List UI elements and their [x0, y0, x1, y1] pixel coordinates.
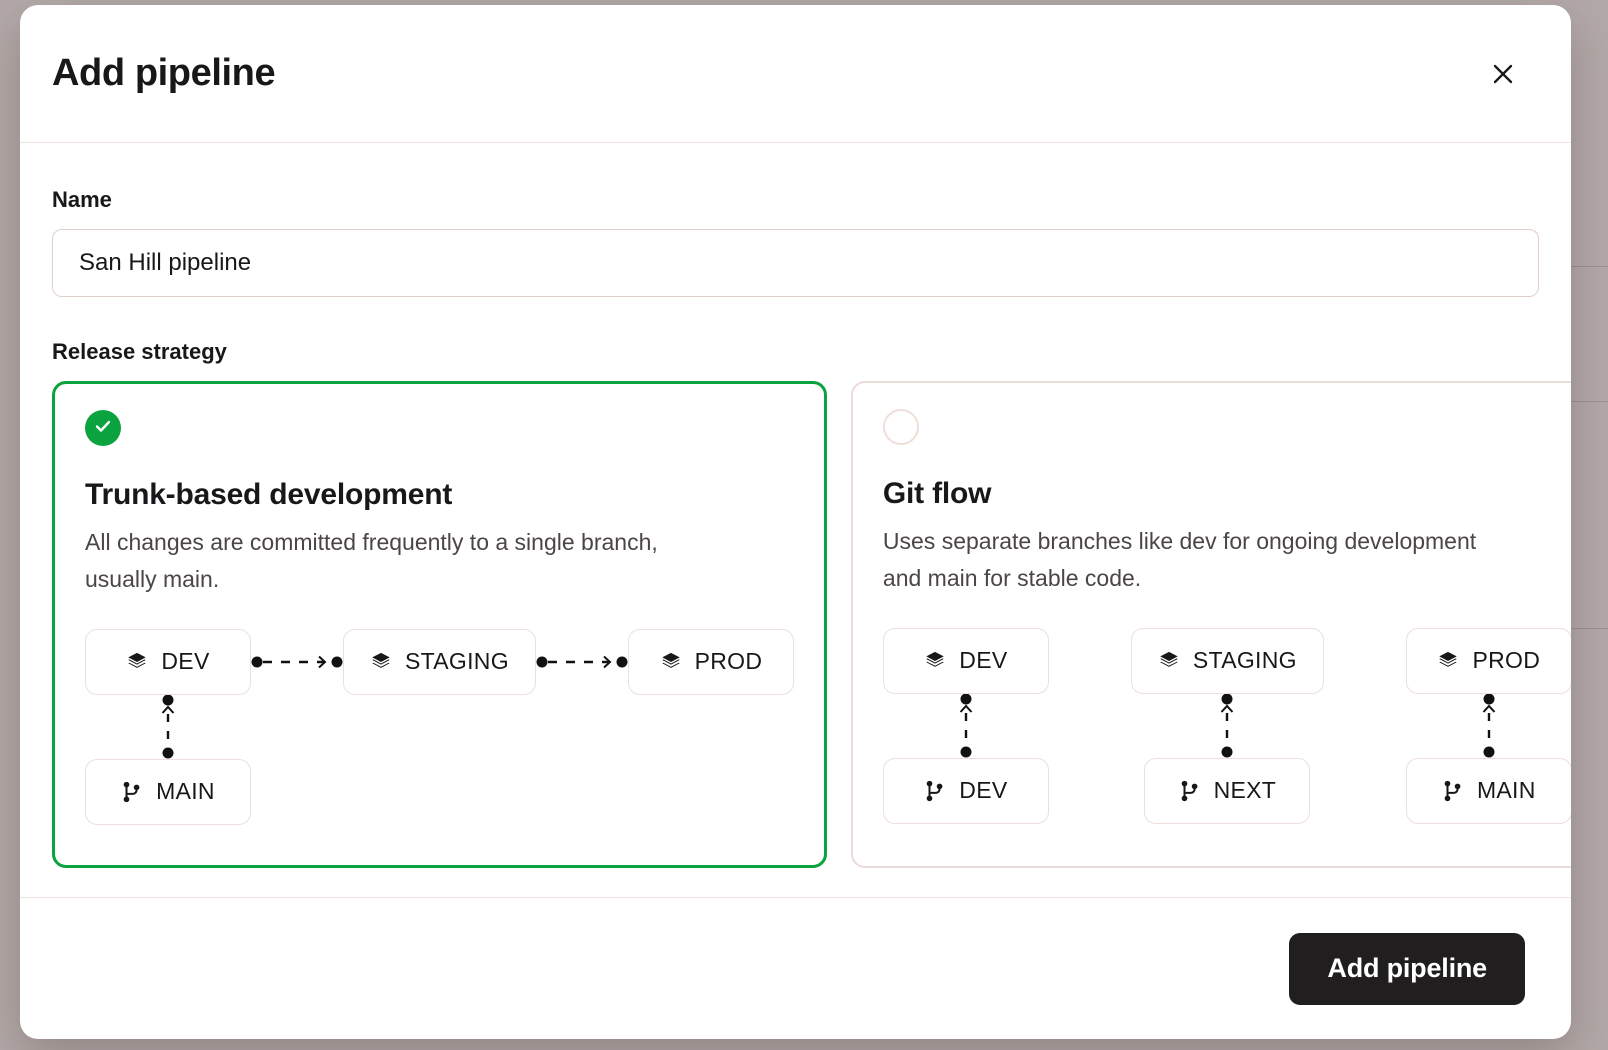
close-icon [1490, 61, 1516, 87]
git-branch-icon [924, 780, 946, 802]
strategy-selected-marker[interactable] [85, 410, 121, 446]
stack-icon [1158, 650, 1180, 672]
strategy-card-trunk-based[interactable]: Trunk-based development All changes are … [52, 381, 827, 868]
add-pipeline-submit-button[interactable]: Add pipeline [1289, 933, 1525, 1005]
name-input[interactable] [52, 229, 1539, 297]
stack-icon [126, 651, 148, 673]
env-node-dev[interactable]: DEV [85, 629, 251, 695]
env-node-prod[interactable]: PROD [628, 629, 794, 695]
stack-icon [1437, 650, 1459, 672]
dialog-header: Add pipeline [20, 5, 1571, 143]
release-strategy-options: Trunk-based development All changes are … [52, 381, 1539, 868]
pipeline-column-dev: DEV [85, 629, 251, 825]
name-field-label: Name [52, 187, 1539, 213]
branch-node-label: MAIN [156, 778, 215, 805]
env-node-label: DEV [959, 647, 1007, 674]
branch-node-main[interactable]: MAIN [1406, 758, 1571, 824]
stack-icon [924, 650, 946, 672]
branch-node-label: DEV [959, 777, 1007, 804]
connector-dev-to-main [155, 695, 181, 759]
connector-staging-to-prod [536, 629, 628, 695]
env-node-label: DEV [161, 648, 209, 675]
strategy-title: Trunk-based development [85, 478, 794, 512]
pipeline-graph-trunk: DEV [85, 629, 794, 825]
pipeline-graph-git-flow: DEV [883, 628, 1571, 824]
env-node-prod[interactable]: PROD [1406, 628, 1571, 694]
pipeline-column-staging: STAGING [1131, 628, 1324, 824]
strategy-title: Git flow [883, 477, 1571, 511]
close-button[interactable] [1481, 52, 1525, 96]
stack-icon [660, 651, 682, 673]
branch-node-label: MAIN [1477, 777, 1536, 804]
env-node-staging[interactable]: STAGING [1131, 628, 1324, 694]
strategy-unselected-marker[interactable] [883, 409, 919, 445]
env-node-label: STAGING [405, 648, 509, 675]
connector-dev-branch-to-dev-env [953, 694, 979, 758]
git-branch-icon [1442, 780, 1464, 802]
pipeline-column-prod: PROD [1406, 628, 1571, 824]
git-branch-icon [121, 781, 143, 803]
stack-icon [370, 651, 392, 673]
strategy-description: All changes are committed frequently to … [85, 524, 685, 599]
strategy-description: Uses separate branches like dev for ongo… [883, 523, 1483, 598]
add-pipeline-dialog: Add pipeline Name Release strategy [20, 5, 1571, 1039]
connector-main-branch-to-prod-env [1476, 694, 1502, 758]
env-node-label: PROD [1472, 647, 1540, 674]
env-node-label: STAGING [1193, 647, 1297, 674]
pipeline-column-prod: PROD [628, 629, 794, 695]
branch-node-main[interactable]: MAIN [85, 759, 251, 825]
connector-next-branch-to-staging-env [1214, 694, 1240, 758]
connector-dev-to-staging [251, 629, 343, 695]
pipeline-column-dev: DEV [883, 628, 1049, 824]
check-icon [93, 416, 113, 441]
env-node-label: PROD [695, 648, 763, 675]
env-node-staging[interactable]: STAGING [343, 629, 536, 695]
dialog-body: Name Release strategy Trunk-based develo… [20, 143, 1571, 897]
pipeline-column-staging: STAGING [343, 629, 536, 695]
strategy-card-git-flow[interactable]: Git flow Uses separate branches like dev… [851, 381, 1571, 868]
dialog-footer: Add pipeline [20, 897, 1571, 1039]
branch-node-label: NEXT [1214, 777, 1277, 804]
env-node-dev[interactable]: DEV [883, 628, 1049, 694]
branch-node-dev[interactable]: DEV [883, 758, 1049, 824]
git-branch-icon [1179, 780, 1201, 802]
branch-node-next[interactable]: NEXT [1144, 758, 1310, 824]
dialog-title: Add pipeline [52, 52, 275, 95]
release-strategy-label: Release strategy [52, 339, 1539, 365]
